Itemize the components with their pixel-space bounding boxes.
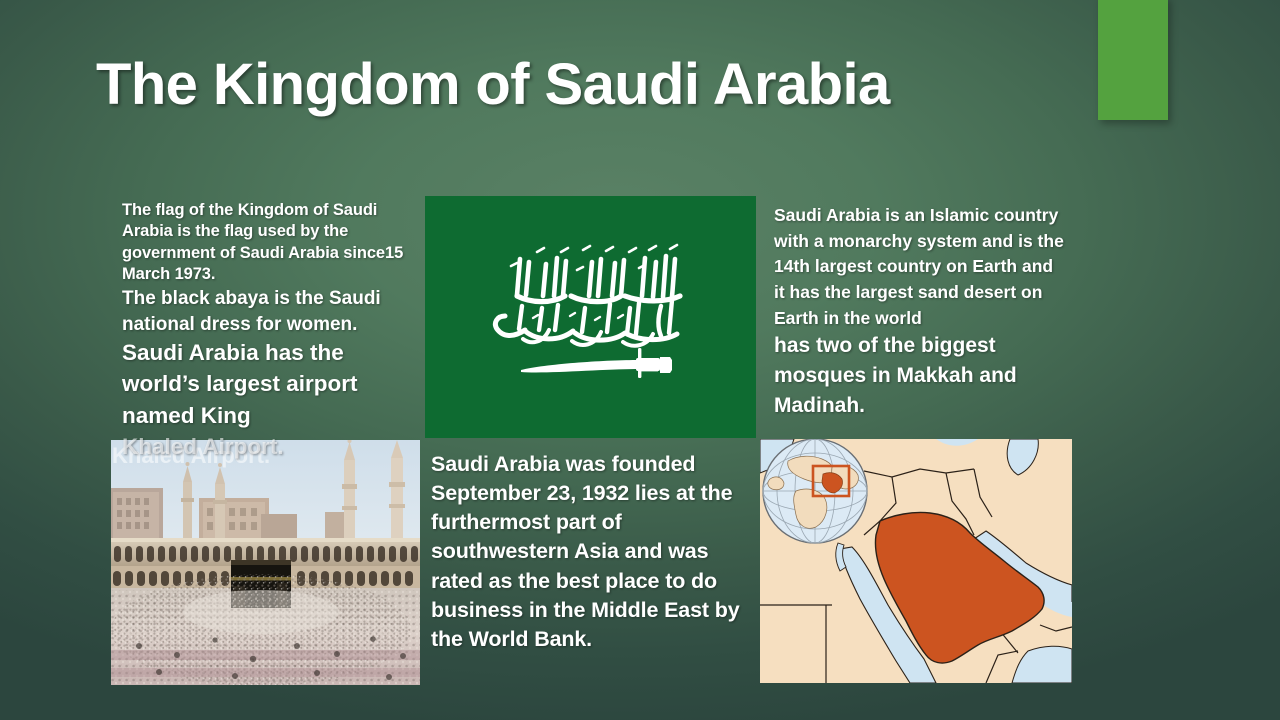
left-text-part2: The black abaya is the Saudi national dr… bbox=[122, 286, 422, 337]
right-text-part2: has two of the biggest mosques in Makkah… bbox=[774, 331, 1064, 420]
left-text-part1: The flag of the Kingdom of Saudi Arabia … bbox=[122, 200, 422, 285]
bottom-text-block: Saudi Arabia was founded September 23, 1… bbox=[431, 450, 749, 654]
saudi-arabia-flag-image bbox=[425, 196, 756, 438]
kaaba-photo: Khaled Airport. bbox=[111, 440, 420, 685]
map-graphic bbox=[760, 439, 1072, 683]
accent-bar-decoration bbox=[1098, 0, 1168, 120]
page-title: The Kingdom of Saudi Arabia bbox=[96, 56, 1056, 114]
pilgrim-crowd bbox=[111, 574, 420, 685]
globe-inset bbox=[763, 439, 867, 543]
left-text-part3: Saudi Arabia has the world’s largest air… bbox=[122, 337, 422, 431]
right-text-part1: Saudi Arabia is an Islamic country with … bbox=[774, 203, 1064, 331]
left-text-part4: Khaled Airport. bbox=[122, 431, 422, 462]
right-text-block: Saudi Arabia is an Islamic country with … bbox=[774, 203, 1064, 421]
presentation-slide: The Kingdom of Saudi Arabia The flag of … bbox=[0, 0, 1280, 720]
saudi-map-image bbox=[760, 439, 1072, 683]
flag-graphic bbox=[425, 196, 756, 438]
kaaba-graphic: Khaled Airport. bbox=[111, 440, 420, 685]
left-text-block: The flag of the Kingdom of Saudi Arabia … bbox=[122, 200, 422, 462]
